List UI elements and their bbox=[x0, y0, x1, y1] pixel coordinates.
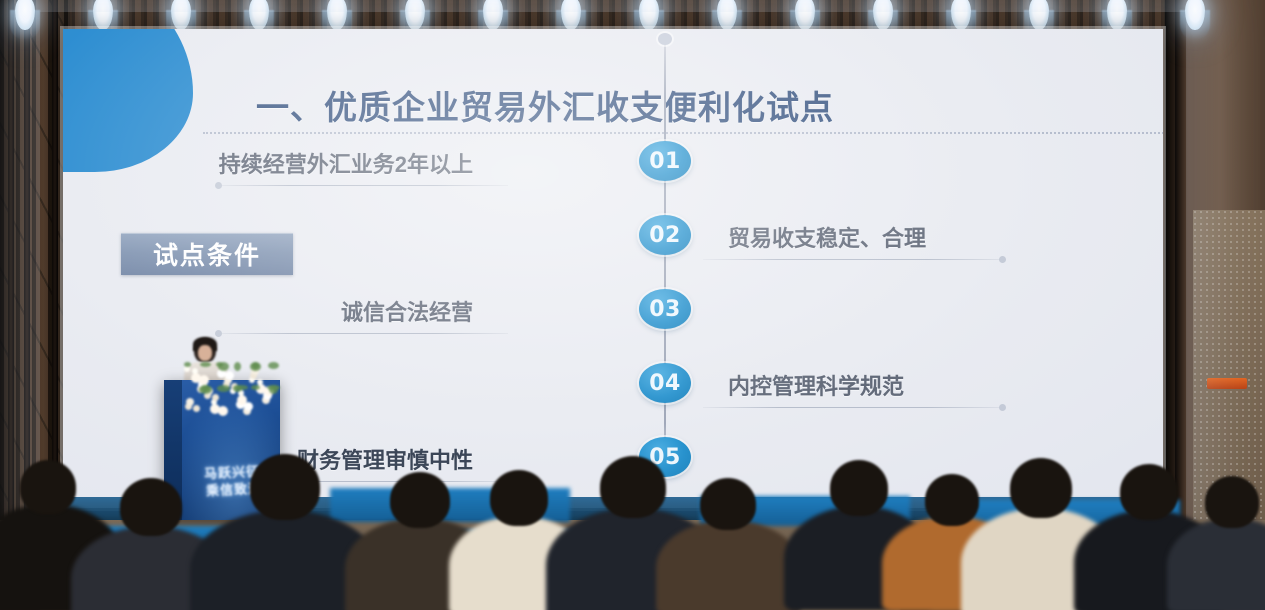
flower-petal bbox=[212, 394, 219, 401]
flower-leaf bbox=[200, 362, 211, 367]
timeline-node-number: 04 bbox=[649, 371, 681, 396]
section-badge: 试点条件 bbox=[121, 233, 293, 275]
audience-head bbox=[490, 470, 548, 526]
photo-scene: 一、优质企业贸易外汇收支便利化试点 试点条件 01持续经营外汇业务2年以上02贸… bbox=[0, 0, 1265, 610]
audience-head bbox=[20, 460, 76, 514]
audience-head bbox=[700, 478, 756, 530]
audience-head bbox=[600, 456, 666, 518]
timeline-node-04: 04 bbox=[639, 363, 691, 403]
audience-shoulders bbox=[656, 520, 801, 610]
flower-arrangement bbox=[184, 360, 274, 416]
flower-leaf bbox=[234, 362, 241, 371]
timeline-rule bbox=[703, 259, 1003, 260]
flower-petal bbox=[225, 371, 234, 380]
flower-leaf bbox=[250, 362, 261, 371]
flower-leaf bbox=[184, 362, 191, 367]
audience-head bbox=[250, 454, 320, 520]
audience-head bbox=[1120, 464, 1178, 520]
timeline-rule-dot bbox=[999, 256, 1006, 263]
timeline-label-04: 内控管理科学规范 bbox=[728, 369, 904, 401]
timeline-label-02: 贸易收支稳定、合理 bbox=[728, 221, 926, 253]
flower-leaf bbox=[199, 385, 212, 394]
timeline-rule-dot bbox=[999, 404, 1006, 411]
audience-head bbox=[390, 472, 450, 528]
audience-head bbox=[925, 474, 979, 526]
orange-sign bbox=[1207, 378, 1247, 389]
audience-head bbox=[120, 478, 182, 536]
audience-head bbox=[1205, 476, 1259, 528]
title-divider bbox=[203, 132, 1163, 134]
timeline-label-01: 持续经营外汇业务2年以上 bbox=[219, 147, 473, 179]
flower-leaf bbox=[217, 385, 230, 392]
timeline-node-number: 01 bbox=[649, 149, 681, 174]
ceiling-spotlight bbox=[8, 0, 42, 38]
flower-leaf bbox=[268, 362, 279, 369]
flower-leaf bbox=[233, 385, 242, 392]
flower-petal bbox=[192, 368, 198, 374]
ceiling-spotlight bbox=[1178, 0, 1212, 38]
corner-blue-shape bbox=[63, 29, 193, 172]
speaker-face bbox=[198, 345, 212, 361]
audience: 03排06号03排07号03排09号02排10号01排11号 bbox=[0, 430, 1265, 610]
timeline-node-number: 03 bbox=[649, 297, 681, 322]
flower-petal bbox=[244, 402, 253, 411]
flower-petal bbox=[199, 375, 209, 385]
timeline-top-dot bbox=[658, 33, 672, 45]
flower-petal bbox=[257, 379, 263, 385]
flower-petal bbox=[193, 405, 200, 412]
slide-title: 一、优质企业贸易外汇收支便利化试点 bbox=[256, 81, 834, 129]
timeline-node-01: 01 bbox=[639, 141, 691, 181]
flower-petal bbox=[218, 406, 228, 416]
audience-head bbox=[1010, 458, 1072, 518]
timeline-node-number: 02 bbox=[649, 223, 681, 248]
timeline-node-02: 02 bbox=[639, 215, 691, 255]
audience-head bbox=[830, 460, 888, 516]
timeline-label-03: 诚信合法经营 bbox=[341, 295, 473, 327]
timeline-node-03: 03 bbox=[639, 289, 691, 329]
flower-leaf bbox=[251, 385, 260, 390]
flower-leaf bbox=[267, 385, 280, 390]
timeline-rule-dot bbox=[215, 182, 222, 189]
flower-leaf bbox=[216, 362, 223, 367]
timeline-rule bbox=[703, 407, 1003, 408]
flower-petal bbox=[186, 398, 194, 406]
timeline-rule bbox=[218, 185, 508, 186]
